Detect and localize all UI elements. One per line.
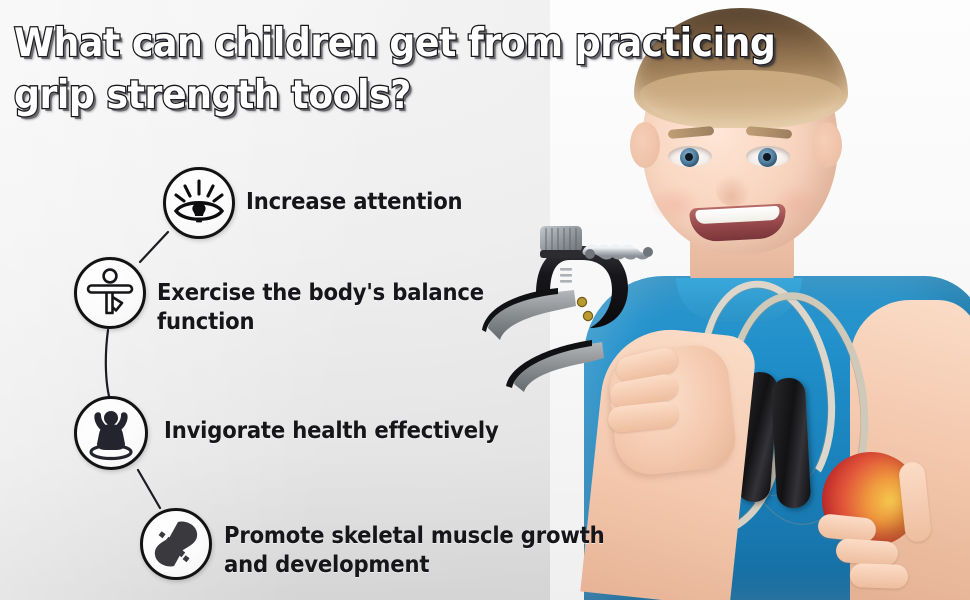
- balance-figure-icon: [83, 266, 137, 320]
- feature-icon-4[interactable]: [140, 508, 212, 580]
- page-title: What can children get from practicing gr…: [14, 18, 684, 122]
- feature-label-2: Exercise the body's balance function: [157, 279, 484, 337]
- feature-icon-1[interactable]: [163, 167, 235, 239]
- feature-icon-3[interactable]: [74, 396, 148, 470]
- feature-label-1: Increase attention: [246, 188, 462, 217]
- infographic-poster: What can children get from practicing gr…: [0, 0, 970, 600]
- muscle-fiber-icon: [148, 516, 204, 572]
- headline-line-1: What can children get from practicing: [14, 18, 684, 70]
- feature-icon-2[interactable]: [74, 257, 146, 329]
- flexing-muscle-man-icon: [82, 404, 140, 462]
- eye-lightbulb-icon: [171, 175, 227, 231]
- feature-label-3: Invigorate health effectively: [164, 417, 499, 446]
- feature-label-4: Promote skeletal muscle growth and devel…: [224, 522, 605, 580]
- headline-line-2: grip strength tools?: [14, 70, 684, 122]
